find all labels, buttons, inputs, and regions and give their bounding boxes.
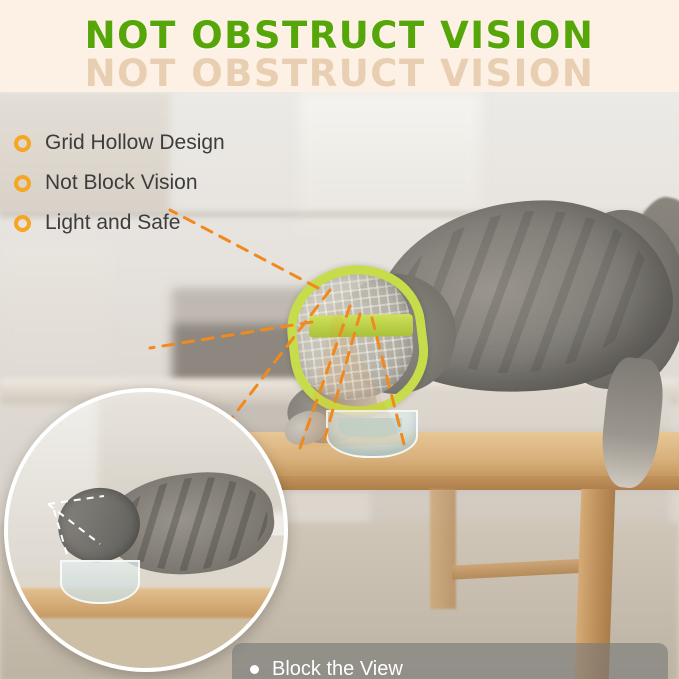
- features-list: Grid Hollow Design Not Block Vision Ligh…: [14, 128, 314, 248]
- feature-item: Light and Safe: [14, 208, 314, 238]
- mesh-recovery-collar: [285, 263, 420, 407]
- wooden-table-leg-back: [430, 489, 456, 609]
- feature-item-label: Grid Hollow Design: [45, 131, 225, 155]
- feature-item: Not Block Vision: [14, 168, 314, 198]
- page-title: NOT OBSTRUCT VISION: [0, 14, 679, 57]
- page-title-echo: NOT OBSTRUCT VISION: [0, 52, 679, 92]
- feature-item-label: Light and Safe: [45, 211, 180, 235]
- bullet-ring-icon: [14, 175, 31, 192]
- bullet-ring-icon: [14, 215, 31, 232]
- cons-panel: Block the View Easy to Bump into Things …: [232, 643, 668, 679]
- bullet-ring-icon: [14, 135, 31, 152]
- cons-item: Block the View: [232, 653, 668, 679]
- kitchen-window: [300, 92, 480, 232]
- header-banner: NOT OBSTRUCT VISION NOT OBSTRUCT VISION: [0, 0, 679, 92]
- bullet-dot-icon: [250, 665, 259, 674]
- feature-item: Grid Hollow Design: [14, 128, 314, 158]
- cons-item-label: Block the View: [272, 658, 403, 679]
- feature-item-label: Not Block Vision: [45, 171, 198, 195]
- bowl-water: [338, 418, 402, 438]
- comparison-inset-circle: [4, 388, 288, 672]
- inset-blocked-view-lines: [8, 392, 284, 668]
- product-infographic: NOT OBSTRUCT VISION NOT OBSTRUCT VISION: [0, 0, 679, 679]
